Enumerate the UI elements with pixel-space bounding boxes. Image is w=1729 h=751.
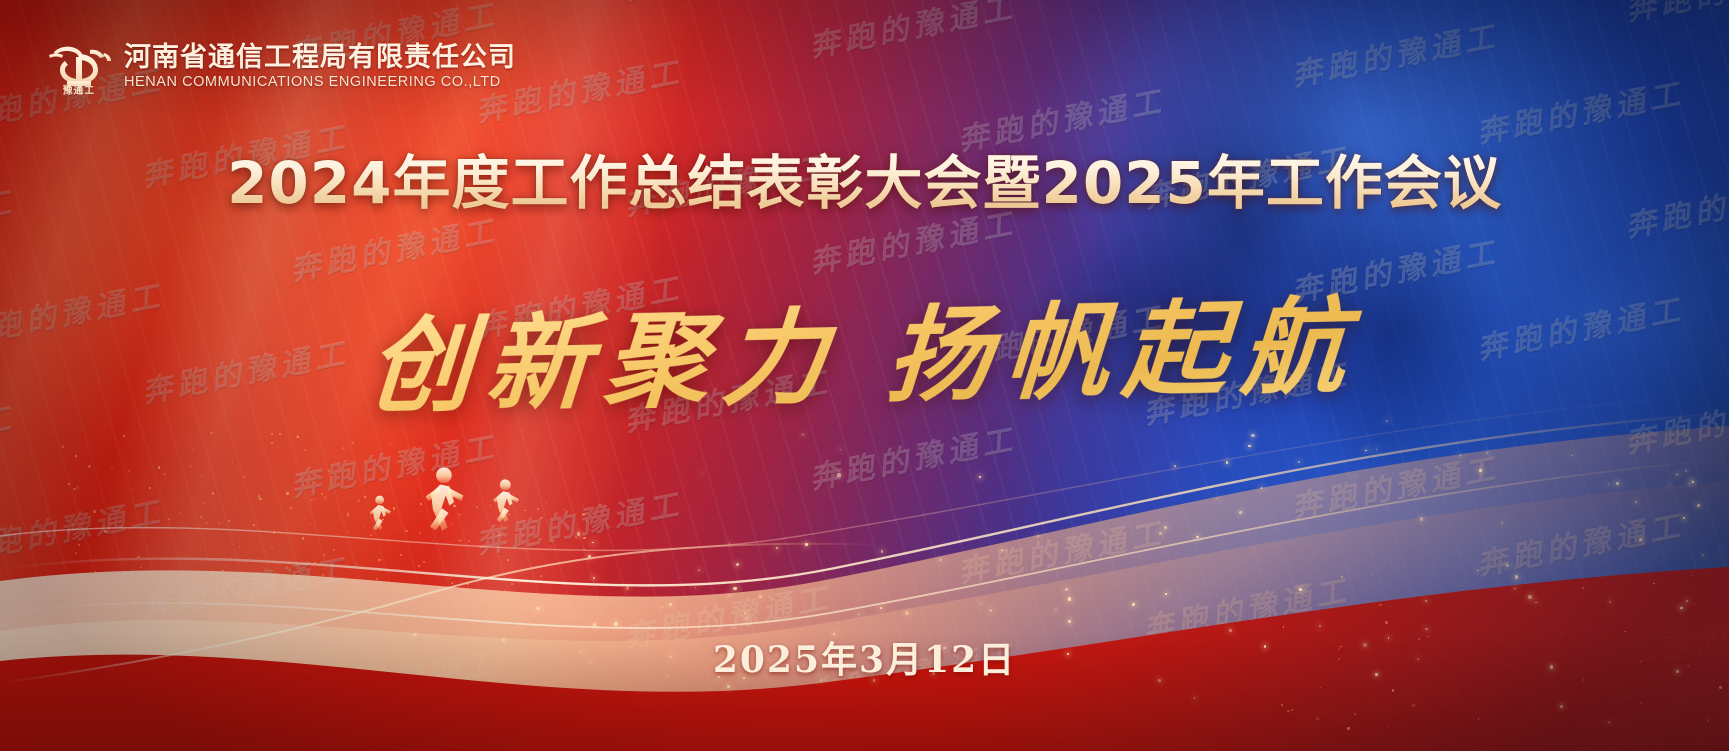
event-date: 2025年3月12日 <box>0 631 1729 683</box>
slogan-spacer <box>838 393 884 394</box>
slogan-left: 创新聚力 <box>364 295 845 428</box>
company-name-cn: 河南省通信工程局有限责任公司 <box>124 43 516 72</box>
conference-title: 2024年度工作总结表彰大会暨2025年工作会议 <box>0 136 1729 220</box>
dragon-emblem-logo: 豫通工 <box>46 36 112 98</box>
company-name-en: HENAN COMMUNICATIONS ENGINEERING CO.,LTD <box>124 75 516 91</box>
logo-mark-caption: 豫通工 <box>63 85 95 97</box>
logo-text-group: 河南省通信工程局有限责任公司 HENAN COMMUNICATIONS ENGI… <box>124 43 516 90</box>
conference-banner: 奔跑的豫通工奔跑的豫通工奔跑的豫通工奔跑的豫通工奔跑的豫通工奔跑的豫通工奔跑的豫… <box>0 0 1729 751</box>
company-logo-block[interactable]: 豫通工 河南省通信工程局有限责任公司 HENAN COMMUNICATIONS … <box>46 36 516 98</box>
slogan-right: 扬帆起航 <box>883 285 1364 418</box>
